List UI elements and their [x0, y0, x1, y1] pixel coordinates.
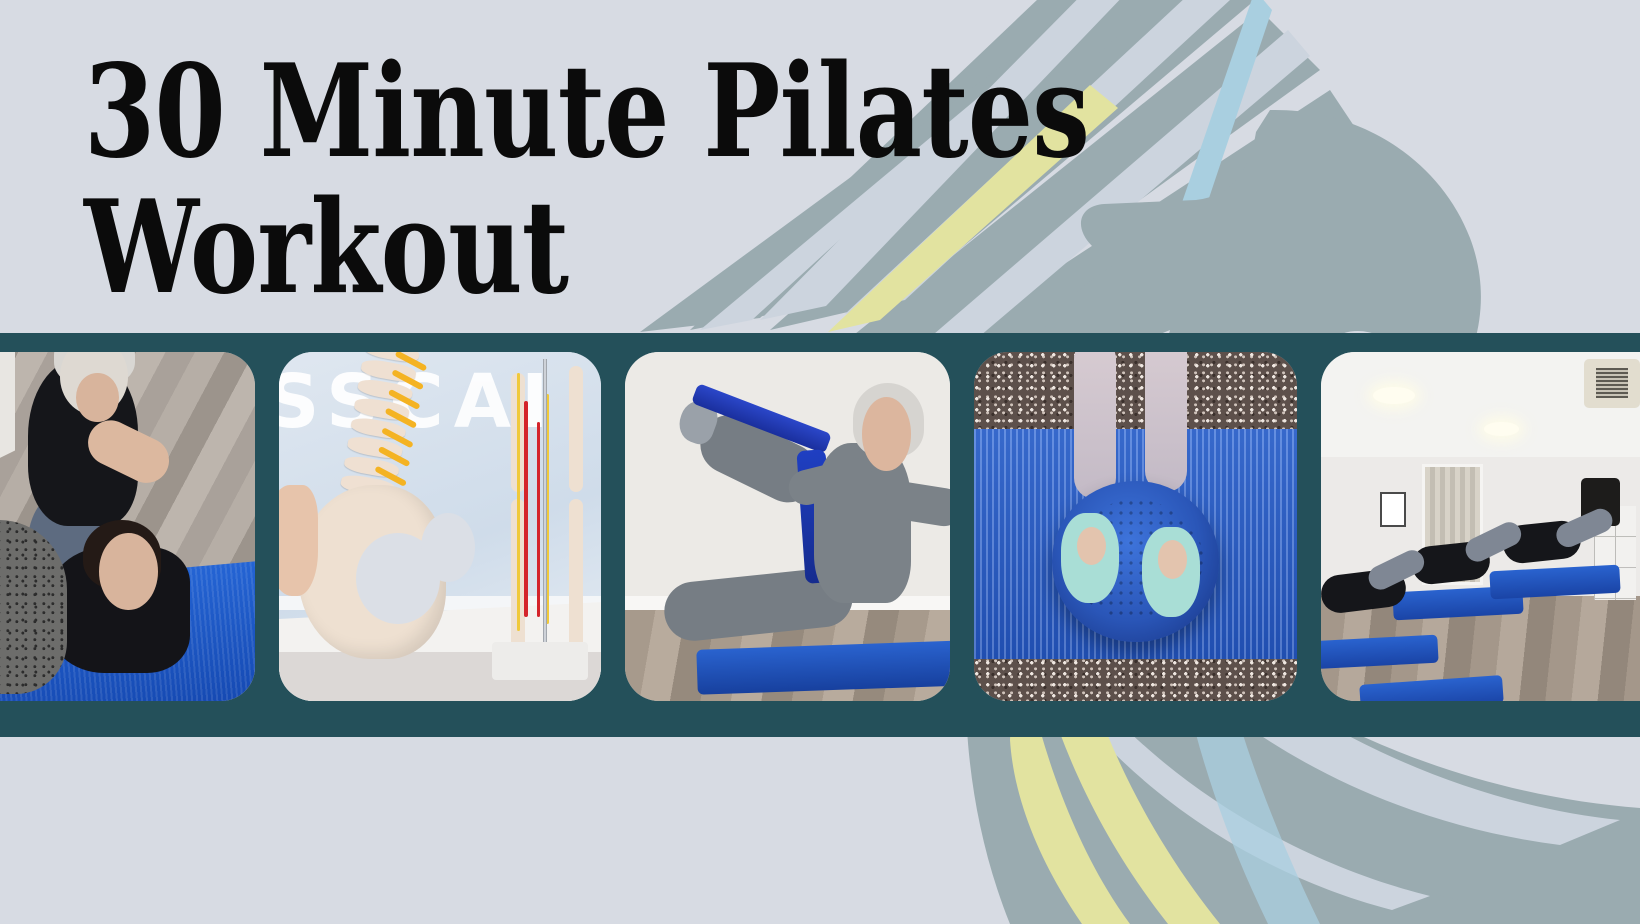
photo-woman-resistance-band: Woman seated on a mat stretching a blue …	[625, 352, 950, 701]
poster-canvas: 30 Minute Pilates Workout	[0, 0, 1640, 924]
photo-trainer-assisting-client: Instructor assisting a client doing a co…	[0, 352, 255, 701]
poster-title: 30 Minute Pilates Workout	[84, 52, 1264, 309]
photo-spine-anatomy-model: SSCAI	[279, 352, 601, 701]
title-line-1: 30 Minute Pilates	[84, 52, 1028, 174]
photo-strip: Instructor assisting a client doing a co…	[0, 352, 1640, 701]
photo-strip-band: Instructor assisting a client doing a co…	[0, 333, 1640, 737]
photo-group-class-studio: Group pilates class lying on blue mats i…	[1321, 352, 1640, 701]
photo-feet-balance-disc: Feet in mint grip toe-socks balancing on…	[974, 352, 1297, 701]
photo-2-wall-text: SSCAI	[279, 359, 601, 436]
title-line-2: Workout	[84, 188, 1028, 310]
